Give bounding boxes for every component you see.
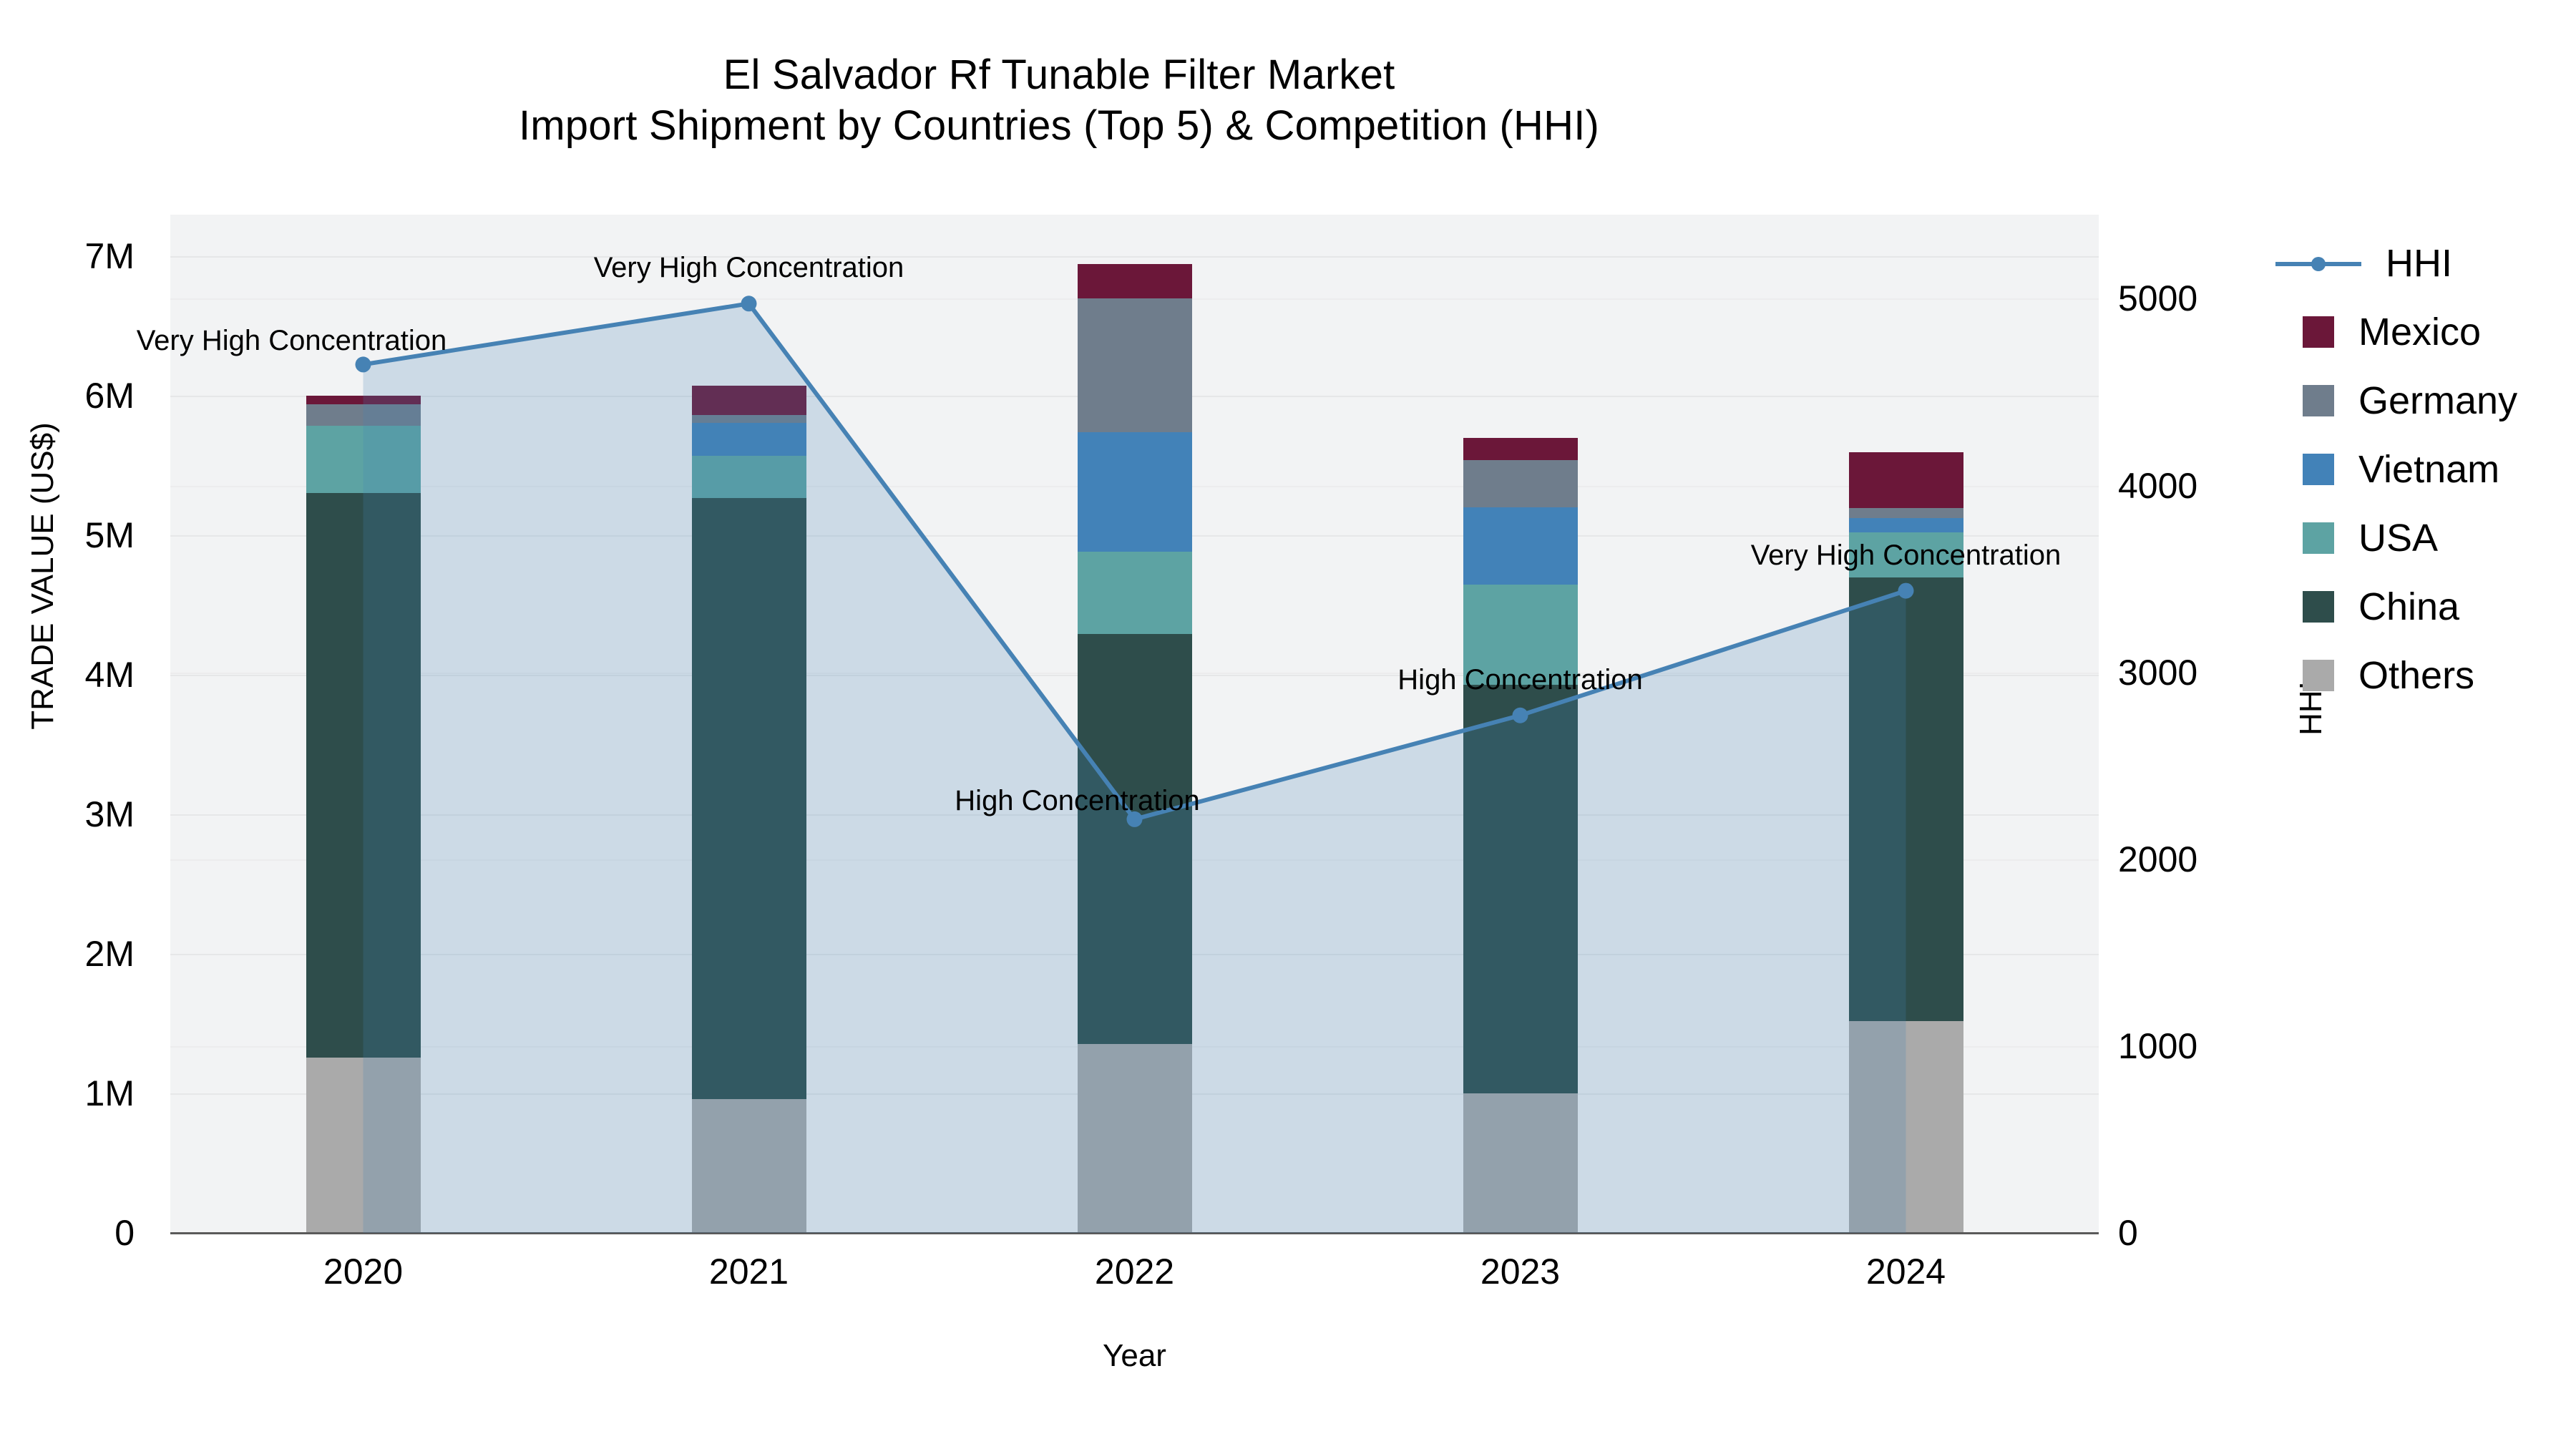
bar-segment[interactable] [692, 415, 806, 424]
legend-label: China [2358, 585, 2459, 629]
bar-segment[interactable] [306, 1058, 421, 1233]
legend-swatch-icon [2303, 316, 2334, 348]
legend-label: HHI [2386, 241, 2452, 286]
bar-segment[interactable] [306, 404, 421, 426]
gridline [170, 256, 2099, 258]
legend-label: Mexico [2358, 310, 2481, 354]
bar-segment[interactable] [1078, 634, 1192, 1044]
legend-item[interactable]: China [2275, 572, 2576, 641]
x-tick-label: 2021 [709, 1251, 789, 1292]
legend-item[interactable]: Mexico [2275, 298, 2576, 366]
bar-segment[interactable] [1463, 507, 1578, 584]
legend-item[interactable]: USA [2275, 504, 2576, 572]
legend-item[interactable]: Others [2275, 641, 2576, 710]
y-tick-label: 0 [114, 1212, 135, 1254]
legend-label: Germany [2358, 379, 2517, 423]
legend-line-marker-icon [2275, 248, 2361, 279]
x-axis-label: Year [170, 1338, 2099, 1374]
concentration-annotation: High Concentration [1397, 664, 1642, 696]
bar-segment[interactable] [1849, 518, 1963, 532]
chart-canvas: El Salvador Rf Tunable Filter Market Imp… [0, 0, 2576, 1449]
bar-segment[interactable] [1849, 508, 1963, 517]
y-axis-label: TRADE VALUE (US$) [25, 361, 61, 791]
y2-tick-label: 3000 [2118, 652, 2197, 693]
bar-segment[interactable] [1463, 685, 1578, 1093]
y2-tick-label: 5000 [2118, 278, 2197, 319]
y2-tick-label: 0 [2118, 1212, 2138, 1254]
legend-swatch-icon [2303, 454, 2334, 485]
y-tick-label: 1M [85, 1073, 135, 1114]
bar-segment[interactable] [306, 493, 421, 1058]
x-tick-label: 2022 [1095, 1251, 1174, 1292]
concentration-annotation: Very High Concentration [594, 252, 904, 284]
bar-segment[interactable] [1849, 1021, 1963, 1233]
bar-segment[interactable] [1078, 432, 1192, 552]
y-tick-label: 5M [85, 514, 135, 556]
y2-tick-label: 2000 [2118, 839, 2197, 880]
bar-segment[interactable] [1078, 264, 1192, 298]
x-tick-label: 2024 [1866, 1251, 1946, 1292]
bar-segment[interactable] [306, 426, 421, 493]
legend-label: Others [2358, 653, 2474, 698]
title-line-2: Import Shipment by Countries (Top 5) & C… [0, 101, 2118, 152]
legend-label: USA [2358, 516, 2438, 560]
bar-segment[interactable] [1463, 438, 1578, 460]
plot-area [170, 215, 2099, 1233]
y-tick-label: 3M [85, 794, 135, 835]
legend-swatch-icon [2303, 591, 2334, 623]
chart-title: El Salvador Rf Tunable Filter Market Imp… [0, 50, 2118, 152]
legend-swatch-icon [2303, 522, 2334, 554]
y-tick-label: 6M [85, 375, 135, 416]
bar-segment[interactable] [1463, 460, 1578, 507]
bar-segment[interactable] [1849, 452, 1963, 508]
bar-segment[interactable] [692, 456, 806, 497]
y2-tick-label: 1000 [2118, 1025, 2197, 1067]
y-tick-label: 7M [85, 235, 135, 277]
x-tick-label: 2023 [1480, 1251, 1560, 1292]
bar-segment[interactable] [692, 498, 806, 1099]
legend-item[interactable]: Vietnam [2275, 435, 2576, 504]
y2-tick-label: 4000 [2118, 465, 2197, 507]
plot-inner [170, 215, 2099, 1233]
legend-label: Vietnam [2358, 447, 2499, 492]
legend: HHIMexicoGermanyVietnamUSAChinaOthers [2275, 229, 2576, 710]
legend-swatch-icon [2303, 385, 2334, 416]
concentration-annotation: Very High Concentration [1751, 540, 2062, 572]
bar-segment[interactable] [1078, 1044, 1192, 1233]
x-axis-line [170, 1232, 2099, 1234]
bar-segment[interactable] [1078, 552, 1192, 634]
concentration-annotation: Very High Concentration [137, 325, 447, 357]
y-tick-label: 2M [85, 933, 135, 975]
bar-segment[interactable] [306, 396, 421, 404]
legend-swatch-icon [2303, 660, 2334, 691]
bar-segment[interactable] [1463, 1093, 1578, 1233]
y-tick-label: 4M [85, 654, 135, 696]
title-line-1: El Salvador Rf Tunable Filter Market [0, 50, 2118, 101]
legend-item[interactable]: HHI [2275, 229, 2576, 298]
legend-item[interactable]: Germany [2275, 366, 2576, 435]
bar-segment[interactable] [692, 386, 806, 415]
concentration-annotation: High Concentration [955, 785, 1199, 817]
bar-segment[interactable] [692, 1099, 806, 1233]
bar-segment[interactable] [1849, 577, 1963, 1021]
bar-segment[interactable] [692, 423, 806, 456]
x-tick-label: 2020 [323, 1251, 403, 1292]
bar-segment[interactable] [1078, 298, 1192, 431]
